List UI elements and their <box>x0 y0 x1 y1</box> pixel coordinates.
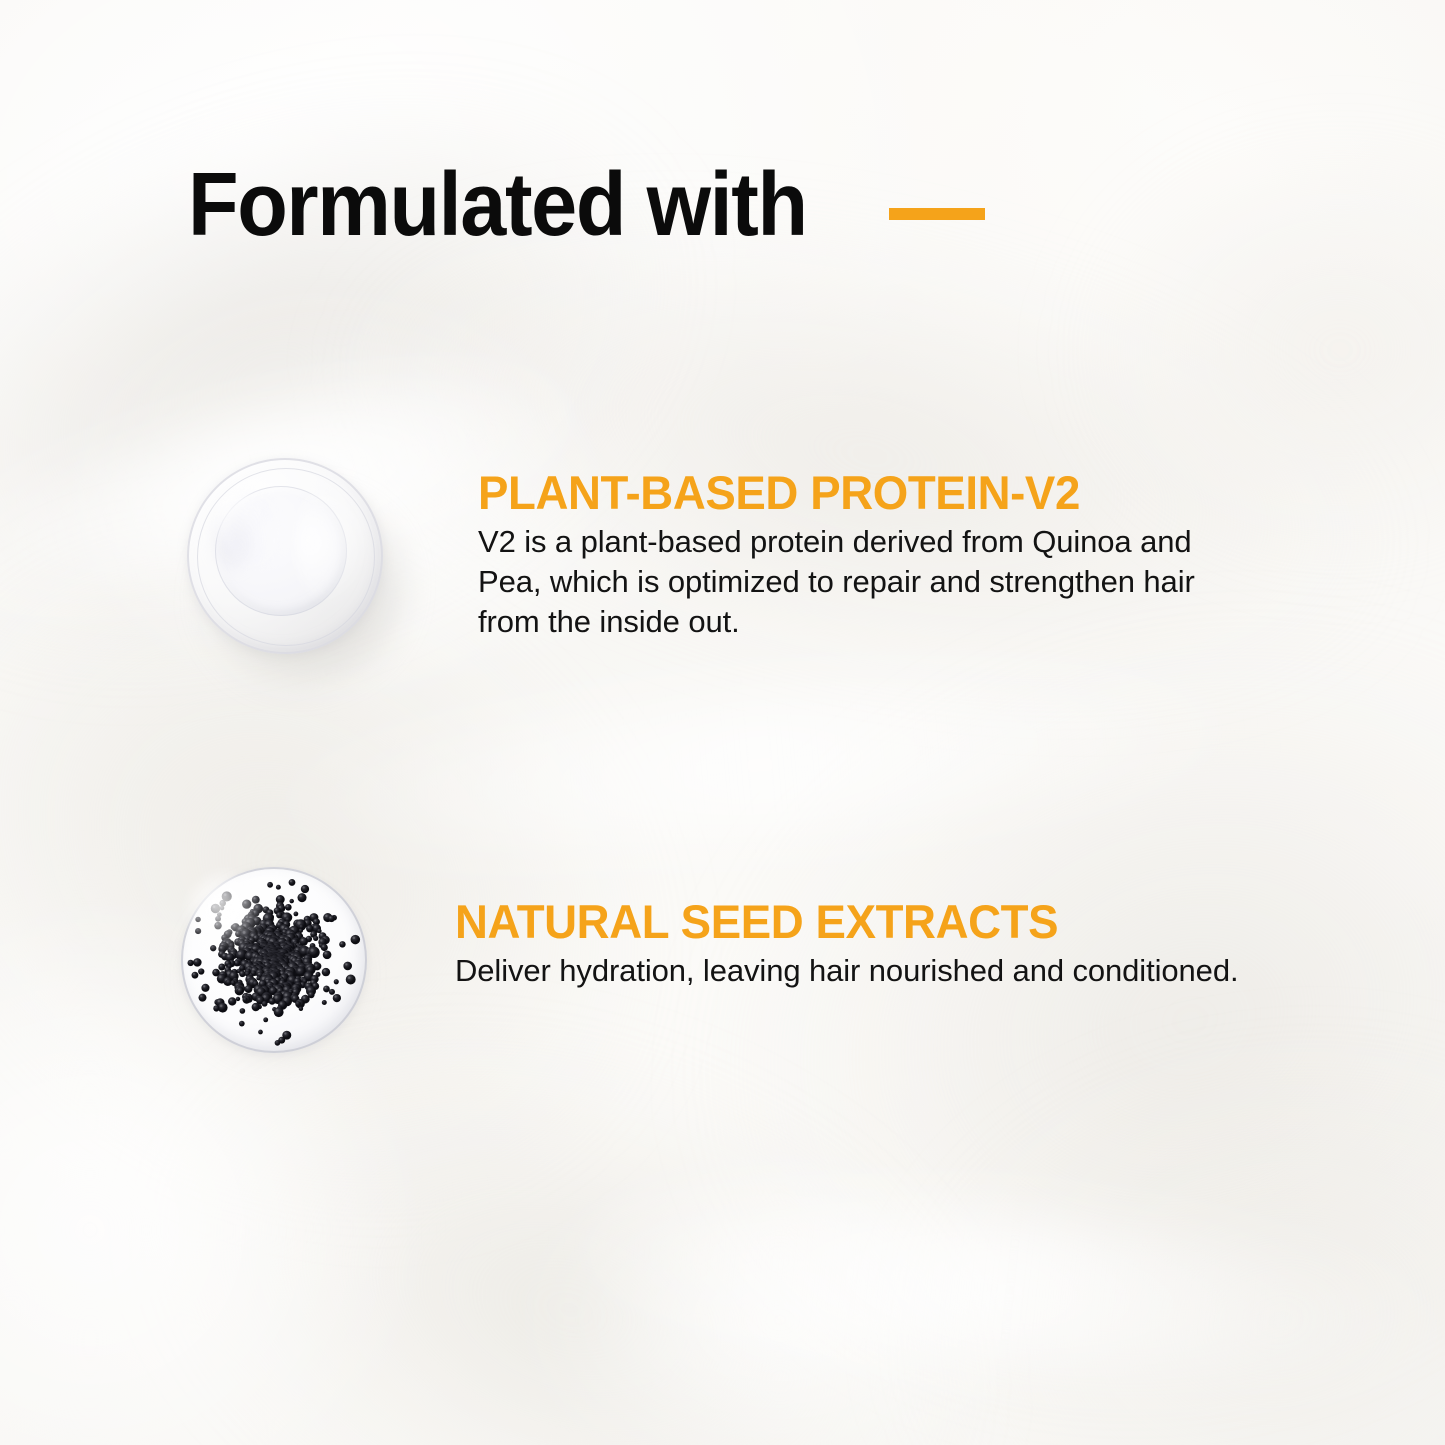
clear-glass-dish-image <box>175 448 405 678</box>
ingredient-description: Deliver hydration, leaving hair nourishe… <box>455 951 1238 991</box>
ingredient-text-block: PLANT-BASED PROTEIN-V2 V2 is a plant-bas… <box>478 448 1238 643</box>
ingredient-row-natural-seed-extracts: NATURAL SEED EXTRACTS Deliver hydration,… <box>165 855 1238 1065</box>
formulated-with-panel: Formulated with PLANT-BASED PROTEIN-V2 V… <box>0 0 1445 1445</box>
ingredient-title: NATURAL SEED EXTRACTS <box>455 897 1215 947</box>
page-title: Formulated with <box>188 160 807 250</box>
seed-petri-dish-image <box>165 855 375 1065</box>
accent-dash-icon <box>889 208 985 220</box>
page-header: Formulated with <box>188 160 985 250</box>
ingredient-description: V2 is a plant-based protein derived from… <box>478 522 1238 643</box>
ingredient-text-block: NATURAL SEED EXTRACTS Deliver hydration,… <box>455 855 1238 991</box>
ingredient-title: PLANT-BASED PROTEIN-V2 <box>478 468 1215 518</box>
ingredient-row-plant-based-protein: PLANT-BASED PROTEIN-V2 V2 is a plant-bas… <box>175 448 1238 678</box>
